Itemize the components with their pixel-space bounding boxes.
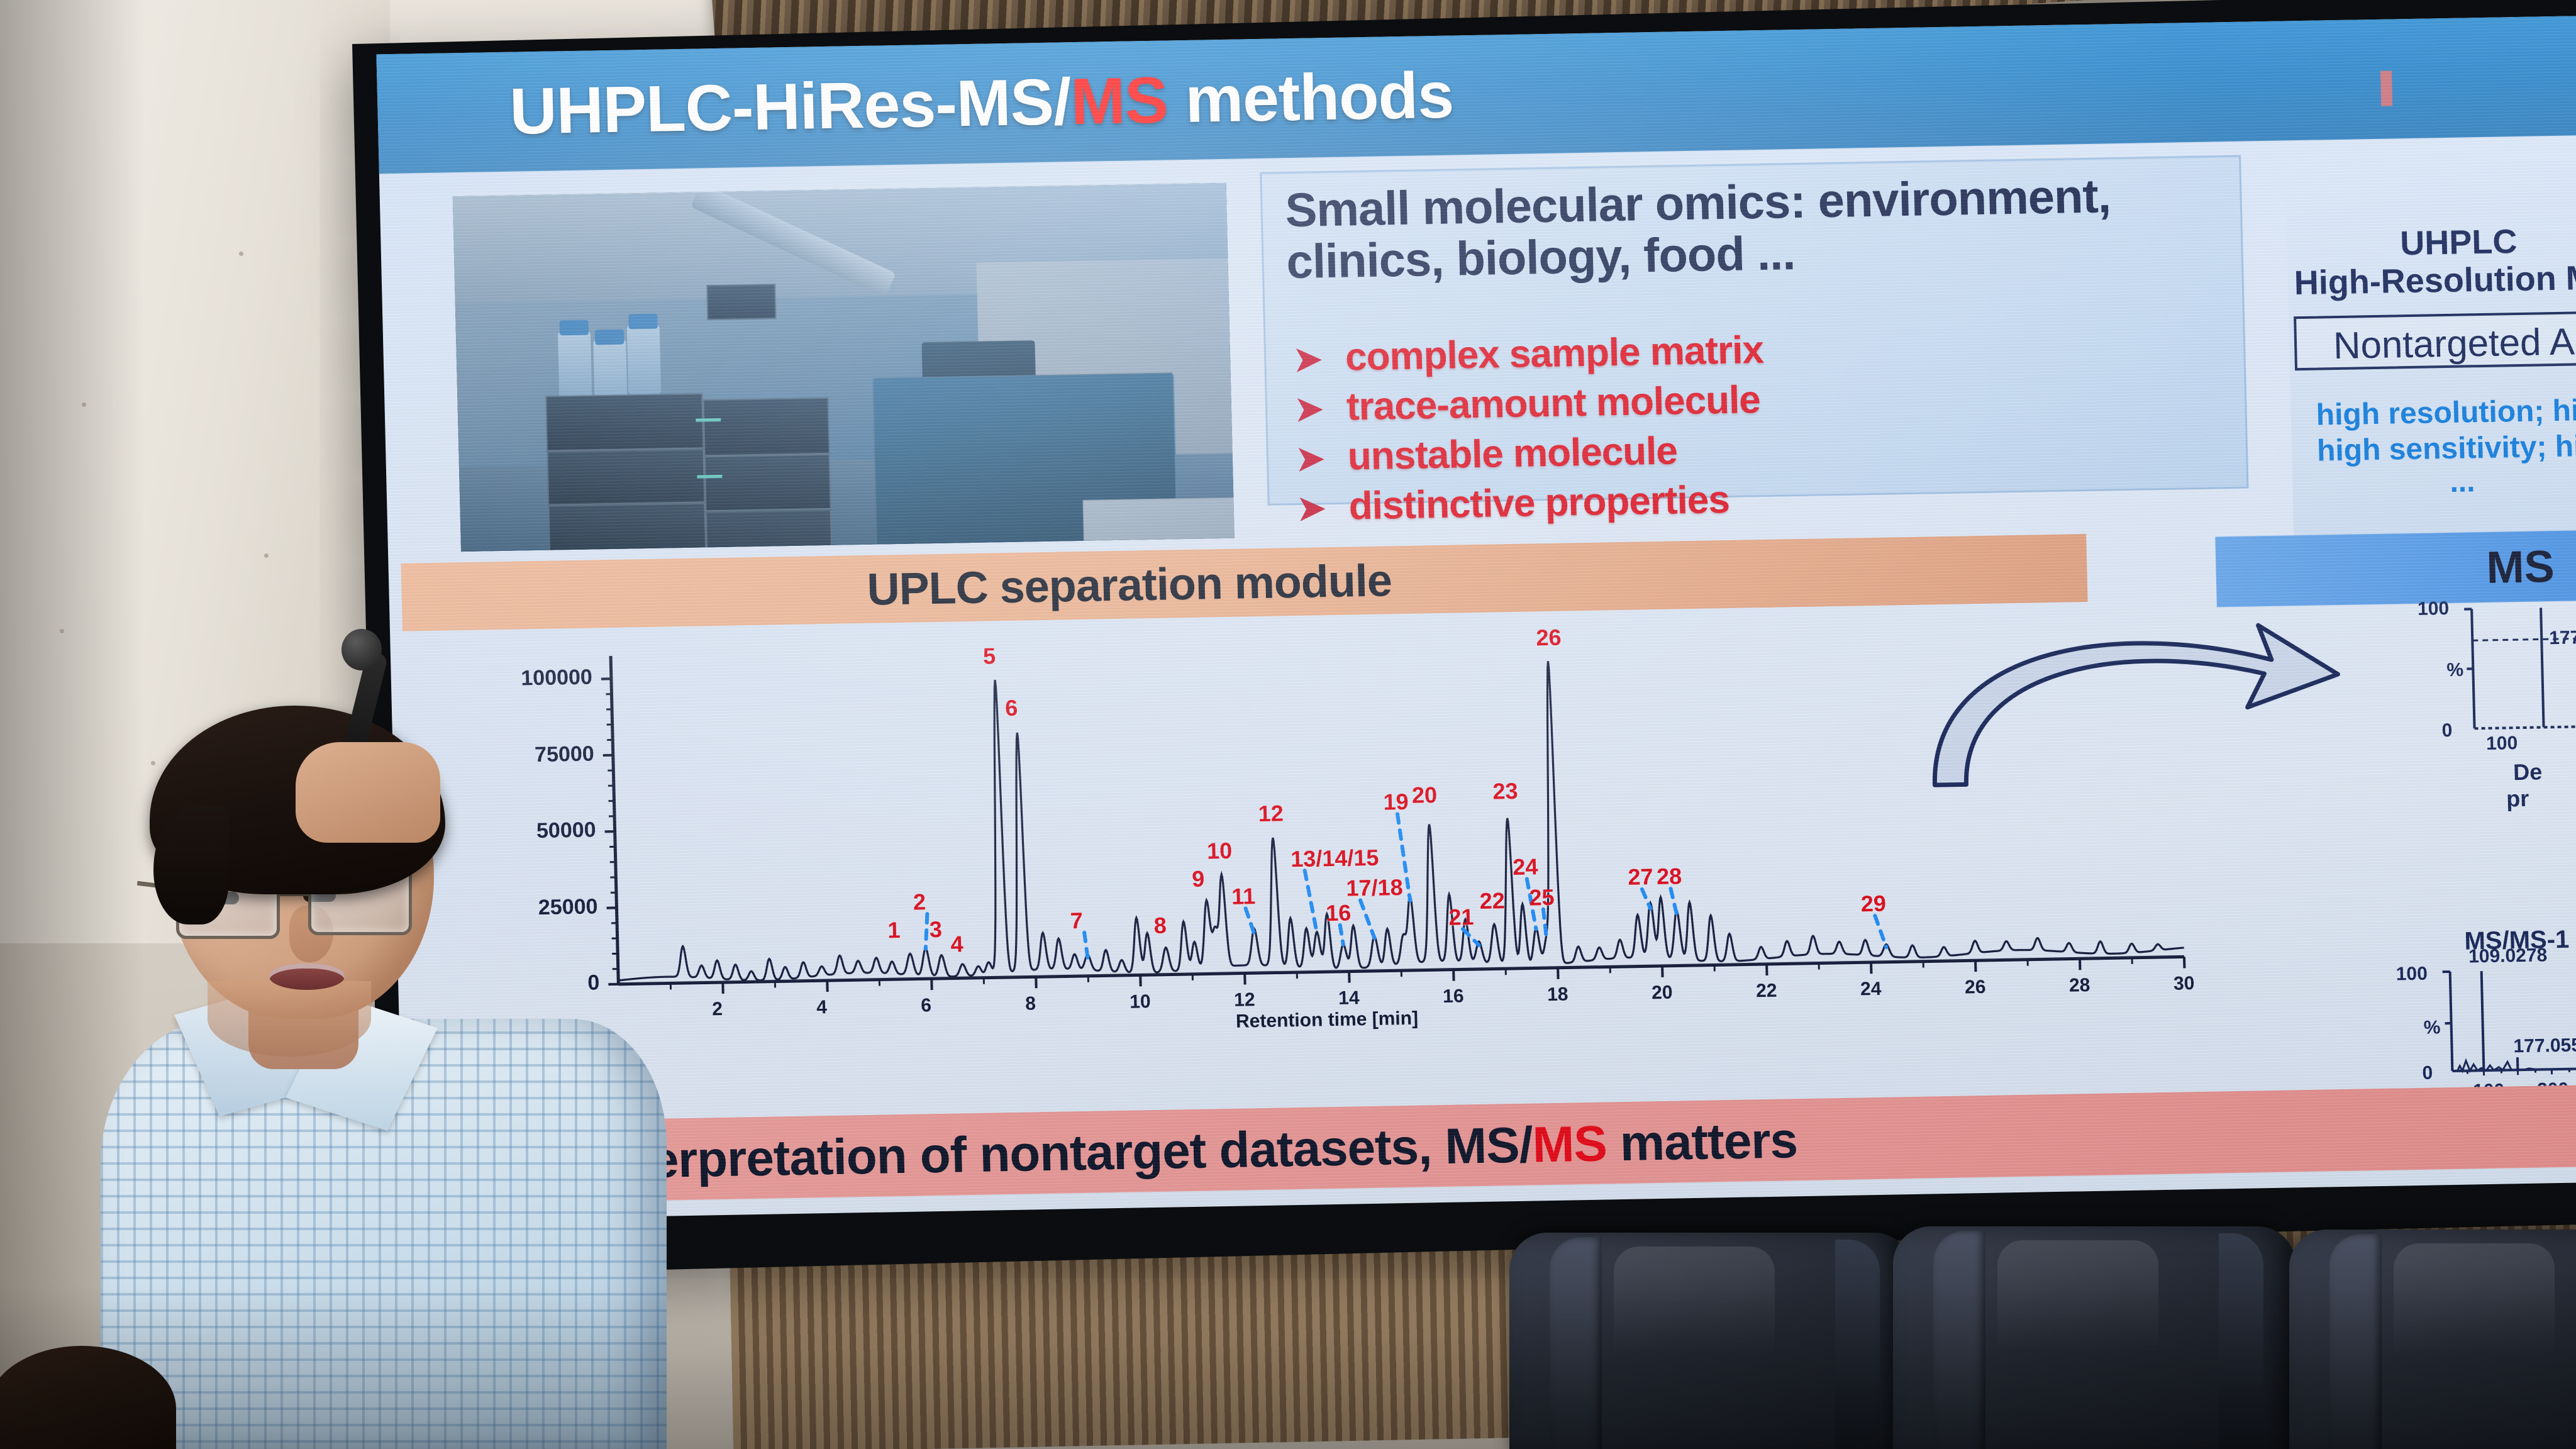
list-item: ➤ distinctive properties xyxy=(1297,477,1767,530)
peak-label: 11 xyxy=(1231,883,1256,910)
peak-label: 17/18 xyxy=(1346,874,1403,902)
instrument-photo xyxy=(453,183,1235,552)
wall-speck xyxy=(60,629,64,633)
list-item: ➤ complex sample matrix xyxy=(1293,328,1763,380)
chromatogram-xtick: 16 xyxy=(1443,985,1464,1008)
slide-title-red-marker xyxy=(2380,70,2392,106)
peak-label: 7 xyxy=(1070,908,1083,934)
ms-precursor-caption-1: De xyxy=(2513,758,2543,786)
ms-precursor-ytick-0: 0 xyxy=(2441,720,2452,741)
list-item: ➤ trace-amount molecule xyxy=(1294,377,1765,430)
chromatogram-xtick: 28 xyxy=(2069,975,2090,997)
ms-precursor-peak-mz: 177 xyxy=(2549,627,2576,649)
presenter-chin xyxy=(208,981,371,1057)
peak-label: 20 xyxy=(1411,782,1437,809)
small-molecular-omics-card: Small molecular omics: environment, clin… xyxy=(1260,155,2248,506)
wall-speck xyxy=(239,252,243,256)
msms1-ytick-100: 100 xyxy=(2396,963,2428,985)
bullet-arrow-icon: ➤ xyxy=(1297,488,1349,528)
uplc-separation-band: UPLC separation module xyxy=(401,534,2087,631)
peak-label: 29 xyxy=(1860,891,1886,918)
peak-label: 19 xyxy=(1383,789,1409,816)
chromatogram-xtick: 6 xyxy=(921,995,931,1016)
hrms-card: UHPLC High-Resolution Mass Sp Nontargete… xyxy=(2285,157,2576,541)
chromatogram-xtick: 12 xyxy=(1234,989,1255,1011)
peak-label: 22 xyxy=(1479,888,1505,915)
chromatogram-xtick: 8 xyxy=(1025,993,1036,1014)
hrms-feature-line2: high sensitivity; high xyxy=(2316,428,2576,469)
photo-scene: UHPLC-HiRes-MS/MS methods xyxy=(0,0,2576,1449)
slide-title-accent: MS xyxy=(1070,64,1169,138)
bottom-band-text: interpretation of nontarget datasets, MS… xyxy=(591,1111,1798,1190)
bullet-label: distinctive properties xyxy=(1348,477,1730,529)
chair xyxy=(1893,1226,2296,1449)
hrms-feature-ellipsis: ... xyxy=(2450,464,2475,499)
bottom-band-accent: MS xyxy=(1532,1115,1607,1172)
peak-label: 10 xyxy=(1207,838,1233,865)
presenter-mouth xyxy=(269,963,345,990)
chromatogram-xtick: 30 xyxy=(2173,973,2195,995)
bullet-label: unstable molecule xyxy=(1347,428,1678,479)
peak-label: 2 xyxy=(913,889,926,915)
peak-label: 9 xyxy=(1192,865,1205,892)
peak-label: 23 xyxy=(1492,777,1518,804)
chromatogram-x-axis-title: Retention time [min] xyxy=(1236,1008,1419,1033)
peak-label: 28 xyxy=(1657,863,1682,891)
chromatogram-xtick: 22 xyxy=(1756,980,1777,1002)
omics-heading: Small molecular omics: environment, clin… xyxy=(1285,169,2231,288)
peak-label: 8 xyxy=(1153,912,1167,938)
hrms-feature-line1: high resolution; high th xyxy=(2316,392,2576,433)
msms1-ylabel: % xyxy=(2423,1017,2440,1038)
ms-band-label: MS xyxy=(2486,541,2555,594)
omics-bullet-list: ➤ complex sample matrix ➤ trace-amount m… xyxy=(1293,328,1767,535)
peak-label: 24 xyxy=(1513,853,1538,880)
msms1-ytick-0: 0 xyxy=(2422,1063,2433,1084)
peak-label: 5 xyxy=(983,643,996,670)
bullet-label: complex sample matrix xyxy=(1345,328,1763,380)
peak-label: 25 xyxy=(1529,884,1555,911)
uplc-separation-label: UPLC separation module xyxy=(867,555,1392,616)
peak-label: 16 xyxy=(1326,900,1352,927)
peak-label: 6 xyxy=(1005,695,1018,721)
hrms-features: high resolution; high th high sensitivit… xyxy=(2316,392,2576,469)
ms-precursor-xtick-100: 100 xyxy=(2486,733,2518,755)
chair xyxy=(2289,1230,2576,1449)
peak-label: 3 xyxy=(929,916,942,942)
wall-speck xyxy=(264,553,269,558)
peak-label: 4 xyxy=(950,931,963,957)
chair xyxy=(1509,1233,1912,1449)
chromatogram-xtick: 10 xyxy=(1130,991,1151,1013)
ms-precursor-caption-2: pr xyxy=(2506,786,2529,813)
ms-precursor-ytick-100: 100 xyxy=(2418,598,2450,620)
peak-label: 27 xyxy=(1628,864,1653,891)
slide-title-part1: UHPLC-HiRes-MS/ xyxy=(509,65,1072,148)
peak-label: 26 xyxy=(1536,624,1562,651)
chromatogram-xtick: 26 xyxy=(1965,977,1986,999)
msms1-peak2-mz: 177.0550 xyxy=(2513,1035,2576,1057)
peak-label: 1 xyxy=(887,917,901,943)
chromatogram-xtick: 18 xyxy=(1547,984,1568,1006)
peak-label: 21 xyxy=(1448,904,1474,931)
peak-label: 13/14/15 xyxy=(1291,844,1379,872)
msms1-spectrum: MS/MS-1 10 xyxy=(2410,934,2576,1108)
bullet-label: trace-amount molecule xyxy=(1346,377,1760,429)
chromatogram-xtick: 4 xyxy=(816,997,827,1018)
chromatogram-xtick: 20 xyxy=(1652,982,1673,1004)
hrms-line1: UHPLC xyxy=(2400,222,2518,263)
peak-label: 12 xyxy=(1258,800,1284,827)
nontargeted-label: Nontargeted A xyxy=(2333,319,2575,367)
flow-arrow-icon xyxy=(1918,589,2350,804)
microphone-head xyxy=(341,629,382,670)
nontargeted-box: Nontargeted A xyxy=(2294,309,2576,370)
chromatogram-xtick: 24 xyxy=(1860,979,1882,1001)
slide-title-part2: methods xyxy=(1167,59,1454,137)
chromatogram-ytick: 100000 xyxy=(466,665,592,692)
list-item: ➤ unstable molecule xyxy=(1296,427,1766,480)
chromatogram-xtick: 14 xyxy=(1338,987,1360,1009)
msms1-peak1-mz: 109.0278 xyxy=(2468,945,2548,967)
ms-precursor-ylabel: % xyxy=(2446,660,2463,681)
hrms-line2: High-Resolution Mass Sp xyxy=(2294,257,2576,303)
bottom-band-text-after: matters xyxy=(1606,1112,1798,1171)
bullet-arrow-icon: ➤ xyxy=(1293,339,1345,379)
wall-speck xyxy=(82,402,86,407)
presenter-hand xyxy=(296,742,440,843)
bullet-arrow-icon: ➤ xyxy=(1294,389,1346,429)
bullet-arrow-icon: ➤ xyxy=(1296,438,1348,479)
ms-precursor-spectrum: 100 % 0 100 177 De pr xyxy=(2446,601,2576,760)
